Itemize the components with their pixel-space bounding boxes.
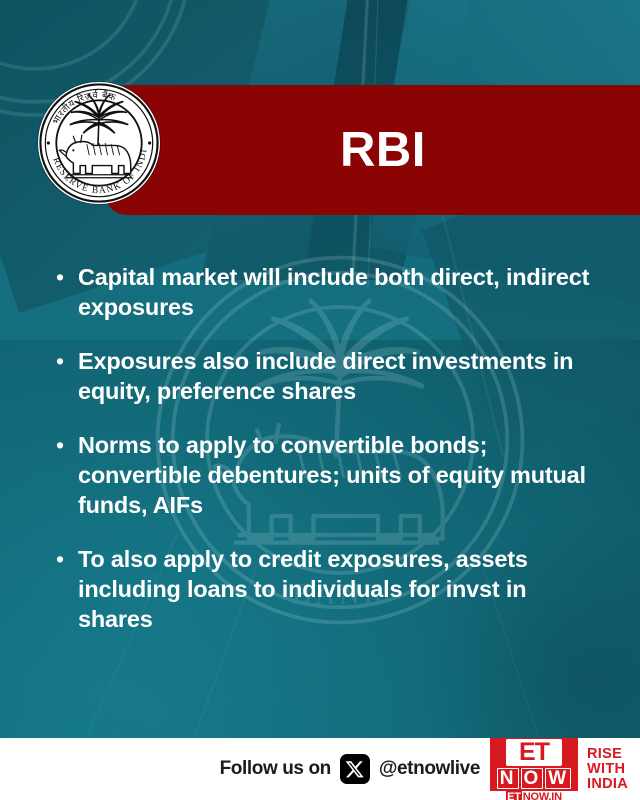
bullet-marker-icon: • (56, 544, 78, 574)
footer-bar: Follow us on @etnowlive ET N O W ETNOW.I… (0, 738, 640, 800)
x-twitter-icon[interactable] (340, 754, 370, 784)
etnow-logo-mark: ET N O W ETNOW.IN (490, 738, 578, 800)
bullet-list: • Capital market will include both direc… (56, 262, 616, 634)
social-follow-group: Follow us on @etnowlive (0, 738, 490, 800)
title-banner: RBI (105, 85, 640, 215)
etnow-logo[interactable]: ET N O W ETNOW.IN RISE WITH INDIA (490, 738, 640, 800)
bullet-marker-icon: • (56, 346, 78, 376)
etnow-url: ETNOW.IN (490, 791, 578, 800)
tagline-line-2: WITH (587, 762, 640, 777)
etnow-url-prefix: ET (506, 791, 522, 800)
list-item: • Exposures also include direct investme… (56, 346, 616, 406)
list-item: • Norms to apply to convertible bonds; c… (56, 430, 616, 520)
bullet-marker-icon: • (56, 430, 78, 460)
bullet-marker-icon: • (56, 262, 78, 292)
etnow-now-text: N O W (497, 768, 571, 789)
etnow-letter-n: N (497, 768, 519, 789)
tagline-line-3: INDIA (587, 777, 640, 792)
follow-us-label: Follow us on (220, 758, 331, 780)
list-item-text: Capital market will include both direct,… (78, 262, 598, 322)
page-title: RBI (340, 126, 426, 175)
list-item-text: Norms to apply to convertible bonds; con… (78, 430, 598, 520)
etnow-letter-w: W (545, 768, 571, 789)
list-item: • To also apply to credit exposures, ass… (56, 544, 616, 634)
list-item: • Capital market will include both direc… (56, 262, 616, 322)
etnow-et-text: ET (506, 739, 562, 766)
list-item-text: To also apply to credit exposures, asset… (78, 544, 598, 634)
news-card: BANK RBI RESERVE BANK OF INDIA भारतीय रि… (0, 0, 640, 800)
etnow-letter-o: O (521, 768, 544, 789)
rbi-seal-emblem-icon: RESERVE BANK OF INDIA भारतीय रिज़र्व बैं… (38, 82, 160, 204)
etnow-tagline: RISE WITH INDIA (578, 738, 640, 800)
tagline-line-1: RISE (587, 747, 640, 762)
social-handle[interactable]: @etnowlive (379, 758, 480, 780)
list-item-text: Exposures also include direct investment… (78, 346, 598, 406)
etnow-url-text: NOW.IN (523, 791, 562, 800)
